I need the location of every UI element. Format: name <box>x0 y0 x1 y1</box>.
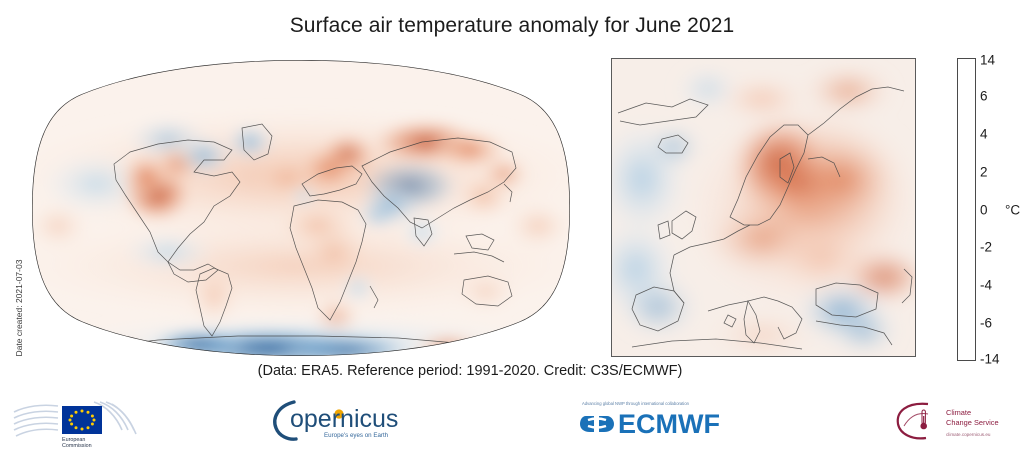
thermometer-icon <box>920 410 927 429</box>
colorbar-tick-4: 4 <box>980 126 988 141</box>
c3s-label-line1: Climate <box>946 408 971 417</box>
page-title: Surface air temperature anomaly for June… <box>0 14 1024 38</box>
ecmwf-strapline: Advancing global NWP through internation… <box>582 401 690 406</box>
copernicus-wordmark: opernicus <box>290 405 398 433</box>
ec-swoosh-left-icon <box>14 405 58 436</box>
colorbar-tick-6: 6 <box>980 88 988 103</box>
global-map-svg <box>18 56 584 361</box>
figure-caption: (Data: ERA5. Reference period: 1991-2020… <box>0 363 940 379</box>
copernicus-tagline: Europe's eyes on Earth <box>324 432 389 439</box>
colorbar-ticks: 14 6 4 2 0 °C -2 -4 -6 -14 <box>980 58 1024 361</box>
ecmwf-wordmark: ECMWF <box>618 409 720 439</box>
logo-copernicus[interactable]: opernicus Europe's eyes on Earth <box>268 396 408 442</box>
colorbar: 14 6 4 2 0 °C -2 -4 -6 -14 <box>957 58 1024 361</box>
colorbar-tick-14: 14 <box>980 53 995 68</box>
global-anomaly-map <box>18 56 584 361</box>
colorbar-tick-minus6: -6 <box>980 316 992 331</box>
c3s-label-line2: Change Service <box>946 418 999 427</box>
logo-european-commission[interactable]: European Commission <box>12 396 140 448</box>
logo-strip: European Commission opernicus Europe's e… <box>0 392 1024 452</box>
figure-root: Surface air temperature anomaly for June… <box>0 0 1024 459</box>
logo-c3s[interactable]: Climate Change Service climate.copernicu… <box>890 398 1020 442</box>
colorbar-tick-2: 2 <box>980 164 988 179</box>
colorbar-unit-label: °C <box>1005 202 1020 217</box>
colorbar-tick-minus14: -14 <box>980 351 1000 366</box>
colorbar-gradient <box>957 58 976 361</box>
europe-anomaly-inset <box>611 58 916 357</box>
ec-label-line2: Commission <box>62 443 92 449</box>
c3s-url: climate.copernicus.eu <box>946 432 991 437</box>
colorbar-tick-minus4: -4 <box>980 278 992 293</box>
europe-map-svg <box>612 59 915 356</box>
colorbar-tick-minus2: -2 <box>980 240 992 255</box>
ecmwf-mark-icon <box>580 416 614 432</box>
logo-ecmwf[interactable]: Advancing global NWP through internation… <box>578 396 738 442</box>
colorbar-tick-0: 0 <box>980 202 988 217</box>
